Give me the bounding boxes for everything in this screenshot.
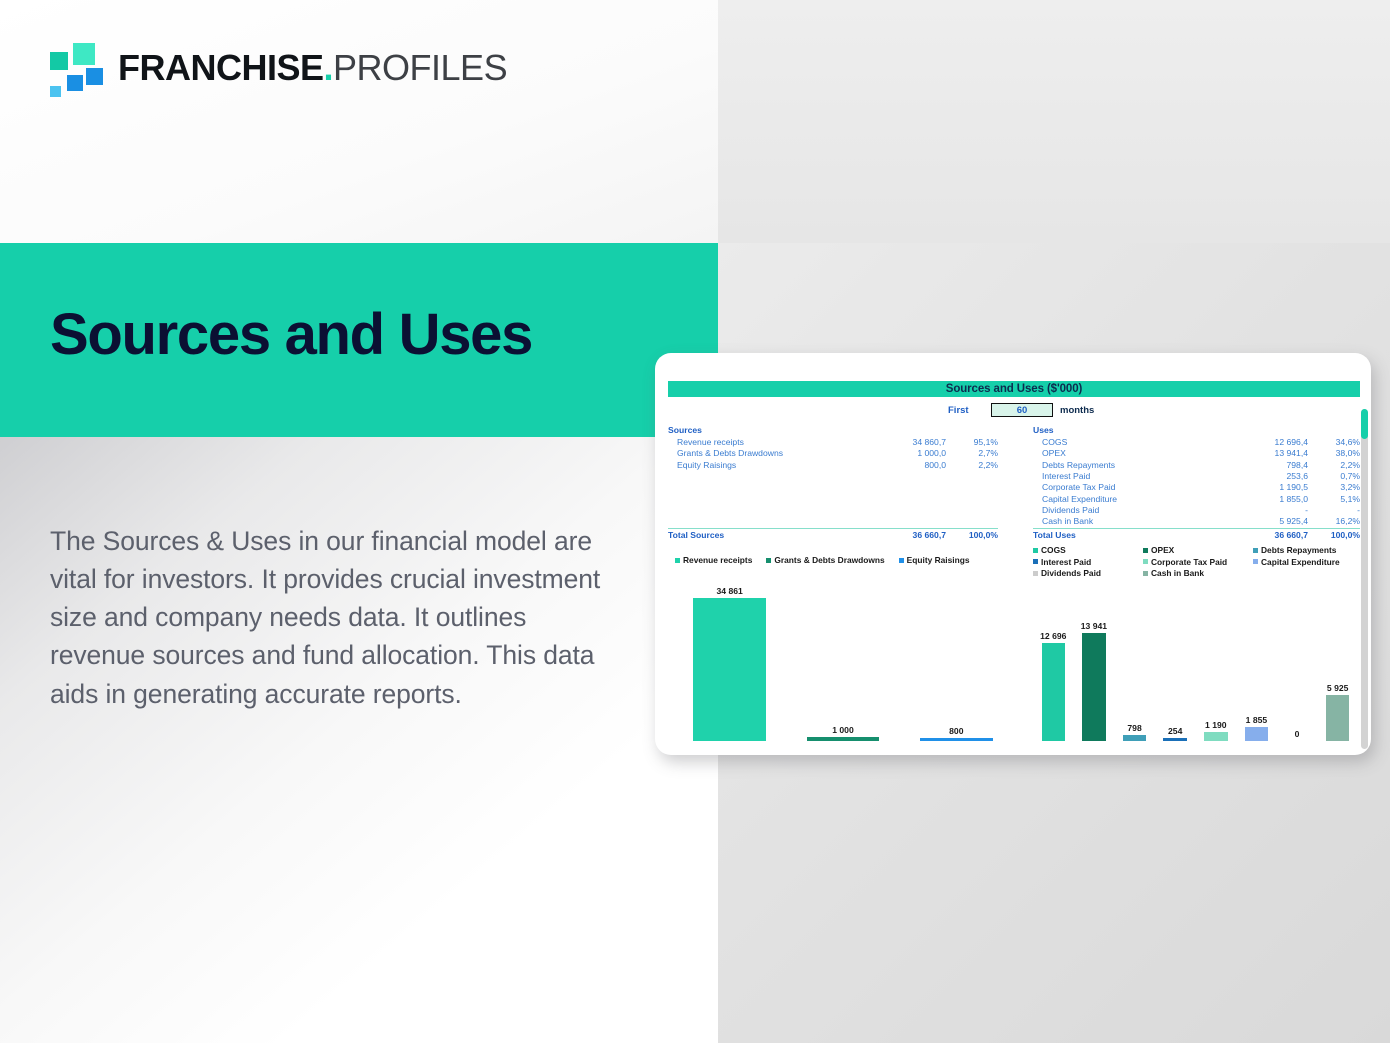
legend-item: COGS [1033,545,1143,555]
scrollbar-thumb[interactable] [1361,409,1368,439]
row-label: Revenue receipts [668,437,868,447]
legend-label: COGS [1041,545,1066,555]
legend-swatch-icon [1033,559,1038,564]
row-label: Capital Expenditure [1033,494,1230,504]
table-row: Debts Repayments 798,4 2,2% [1033,459,1360,470]
legend-swatch-icon [1253,548,1258,553]
legend-label: Equity Raisings [907,555,970,565]
bar-group: 798 [1114,571,1155,741]
total-percent: 100,0% [946,530,998,540]
legend-swatch-icon [766,558,771,563]
legend-swatch-icon [1143,559,1148,564]
row-percent: 2,2% [946,460,998,470]
legend-swatch-icon [1253,559,1258,564]
bar-value-label: 254 [1168,726,1182,736]
bar [920,738,993,741]
bar-group: 13 941 [1074,571,1115,741]
legend-item: Capital Expenditure [1253,557,1363,567]
brand-name-bold: FRANCHISE [118,47,324,88]
bar [1082,633,1106,741]
bar [1123,735,1147,741]
bar [1204,732,1228,741]
slide-canvas: FRANCHISE.PROFILES Sources and Uses The … [0,0,1390,1043]
table-row: Dividends Paid - - [1033,504,1360,515]
table-row: Interest Paid 253,6 0,7% [1033,470,1360,481]
legend-item: Revenue receipts [675,555,752,565]
row-percent: - [1308,505,1360,515]
row-amount: 800,0 [868,460,946,470]
brand-wordmark: FRANCHISE.PROFILES [118,50,507,86]
period-prefix-label: First [948,405,969,416]
table-row: Capital Expenditure 1 855,0 5,1% [1033,493,1360,504]
row-percent: 3,2% [1308,482,1360,492]
row-percent: 16,2% [1308,516,1360,526]
row-amount: - [1230,505,1308,515]
legend-item: Debts Repayments [1253,545,1363,555]
row-amount: 12 696,4 [1230,437,1308,447]
row-label: OPEX [1033,448,1230,458]
bar [1326,695,1350,741]
table-row: Corporate Tax Paid 1 190,5 3,2% [1033,482,1360,493]
uses-table: Uses COGS 12 696,4 34,6% OPEX 13 941,4 3… [1033,425,1360,541]
legend-item: Interest Paid [1033,557,1143,567]
row-percent: 0,7% [1308,471,1360,481]
brand-name-dot: . [324,47,334,88]
bar [1245,727,1269,741]
total-label: Total Uses [1033,530,1230,540]
table-row: COGS 12 696,4 34,6% [1033,437,1360,448]
row-amount: 253,6 [1230,471,1308,481]
background-panel-top-right [718,0,1390,243]
body-paragraph: The Sources & Uses in our financial mode… [50,522,616,713]
row-label: COGS [1033,437,1230,447]
sources-chart-legend: Revenue receiptsGrants & Debts Drawdowns… [675,555,1015,565]
vertical-scrollbar[interactable] [1361,409,1368,749]
logo-squares-icon [48,42,100,94]
bar-value-label: 5 925 [1327,683,1349,693]
row-percent: 34,6% [1308,437,1360,447]
uses-bar-chart: 12 69613 9417982541 1901 85505 925 [1033,571,1358,741]
page-title: Sources and Uses [50,305,532,366]
bar-group: 5 925 [1317,571,1358,741]
row-label: Dividends Paid [1033,505,1230,515]
row-amount: 13 941,4 [1230,448,1308,458]
legend-item: Grants & Debts Drawdowns [766,555,884,565]
bar [693,598,766,741]
bar-group: 800 [900,571,1013,741]
row-label: Interest Paid [1033,471,1230,481]
sources-total-row: Total Sources 36 660,7 100,0% [668,528,998,541]
background-panel-top-left [0,0,718,243]
sheet-title: Sources and Uses ($'000) [668,381,1360,397]
bar [1163,738,1187,741]
brand-logo: FRANCHISE.PROFILES [48,42,507,94]
bar-value-label: 13 941 [1081,621,1107,631]
legend-label: Grants & Debts Drawdowns [774,555,884,565]
sources-table: Sources Revenue receipts 34 860,7 95,1% … [668,425,998,541]
legend-swatch-icon [675,558,680,563]
bar-group: 34 861 [673,571,786,741]
bar-value-label: 1 190 [1205,720,1227,730]
bar-group: 1 855 [1236,571,1277,741]
total-percent: 100,0% [1308,530,1360,540]
table-row: Revenue receipts 34 860,7 95,1% [668,437,998,448]
row-label: Grants & Debts Drawdowns [668,448,868,458]
legend-item: Corporate Tax Paid [1143,557,1253,567]
period-suffix-label: months [1060,405,1094,416]
row-amount: 1 190,5 [1230,482,1308,492]
bar-value-label: 800 [949,726,963,736]
total-amount: 36 660,7 [1230,530,1308,540]
brand-name-light: PROFILES [333,47,507,88]
table-row: Grants & Debts Drawdowns 1 000,0 2,7% [668,448,998,459]
bar [1042,643,1066,741]
bar-value-label: 0 [1295,729,1300,739]
row-label: Debts Repayments [1033,460,1230,470]
sources-bar-chart: 34 8611 000800 [673,571,1013,741]
legend-label: Interest Paid [1041,557,1091,567]
row-amount: 34 860,7 [868,437,946,447]
bar-group: 12 696 [1033,571,1074,741]
legend-label: OPEX [1151,545,1174,555]
legend-item: OPEX [1143,545,1253,555]
legend-swatch-icon [899,558,904,563]
uses-header: Uses [1033,425,1360,437]
row-percent: 95,1% [946,437,998,447]
bar-value-label: 34 861 [717,586,743,596]
period-selector-row: First 60 months [668,403,1360,419]
row-amount: 798,4 [1230,460,1308,470]
bar [807,737,880,741]
total-amount: 36 660,7 [868,530,946,540]
legend-label: Revenue receipts [683,555,752,565]
row-percent: 38,0% [1308,448,1360,458]
table-row: Equity Raisings 800,0 2,2% [668,459,998,470]
bar-group: 1 190 [1196,571,1237,741]
table-row: OPEX 13 941,4 38,0% [1033,448,1360,459]
legend-item: Equity Raisings [899,555,970,565]
bar-group: 254 [1155,571,1196,741]
row-label: Cash in Bank [1033,516,1230,526]
legend-label: Corporate Tax Paid [1151,557,1227,567]
legend-label: Capital Expenditure [1261,557,1340,567]
row-amount: 5 925,4 [1230,516,1308,526]
row-amount: 1 855,0 [1230,494,1308,504]
row-label: Equity Raisings [668,460,868,470]
total-label: Total Sources [668,530,868,540]
legend-swatch-icon [1033,548,1038,553]
row-percent: 5,1% [1308,494,1360,504]
row-label: Corporate Tax Paid [1033,482,1230,492]
uses-total-row: Total Uses 36 660,7 100,0% [1033,528,1360,541]
table-row: Cash in Bank 5 925,4 16,2% [1033,516,1360,527]
row-amount: 1 000,0 [868,448,946,458]
spreadsheet-card: Sources and Uses ($'000) First 60 months… [655,353,1371,755]
months-input[interactable]: 60 [991,403,1053,417]
legend-swatch-icon [1143,548,1148,553]
legend-label: Debts Repayments [1261,545,1336,555]
bar-group: 0 [1277,571,1318,741]
bar-value-label: 1 000 [832,725,854,735]
row-percent: 2,2% [1308,460,1360,470]
bar-value-label: 1 855 [1246,715,1268,725]
bar-group: 1 000 [786,571,899,741]
sources-header: Sources [668,425,998,437]
bar-value-label: 798 [1127,723,1141,733]
bar-value-label: 12 696 [1040,631,1066,641]
row-percent: 2,7% [946,448,998,458]
